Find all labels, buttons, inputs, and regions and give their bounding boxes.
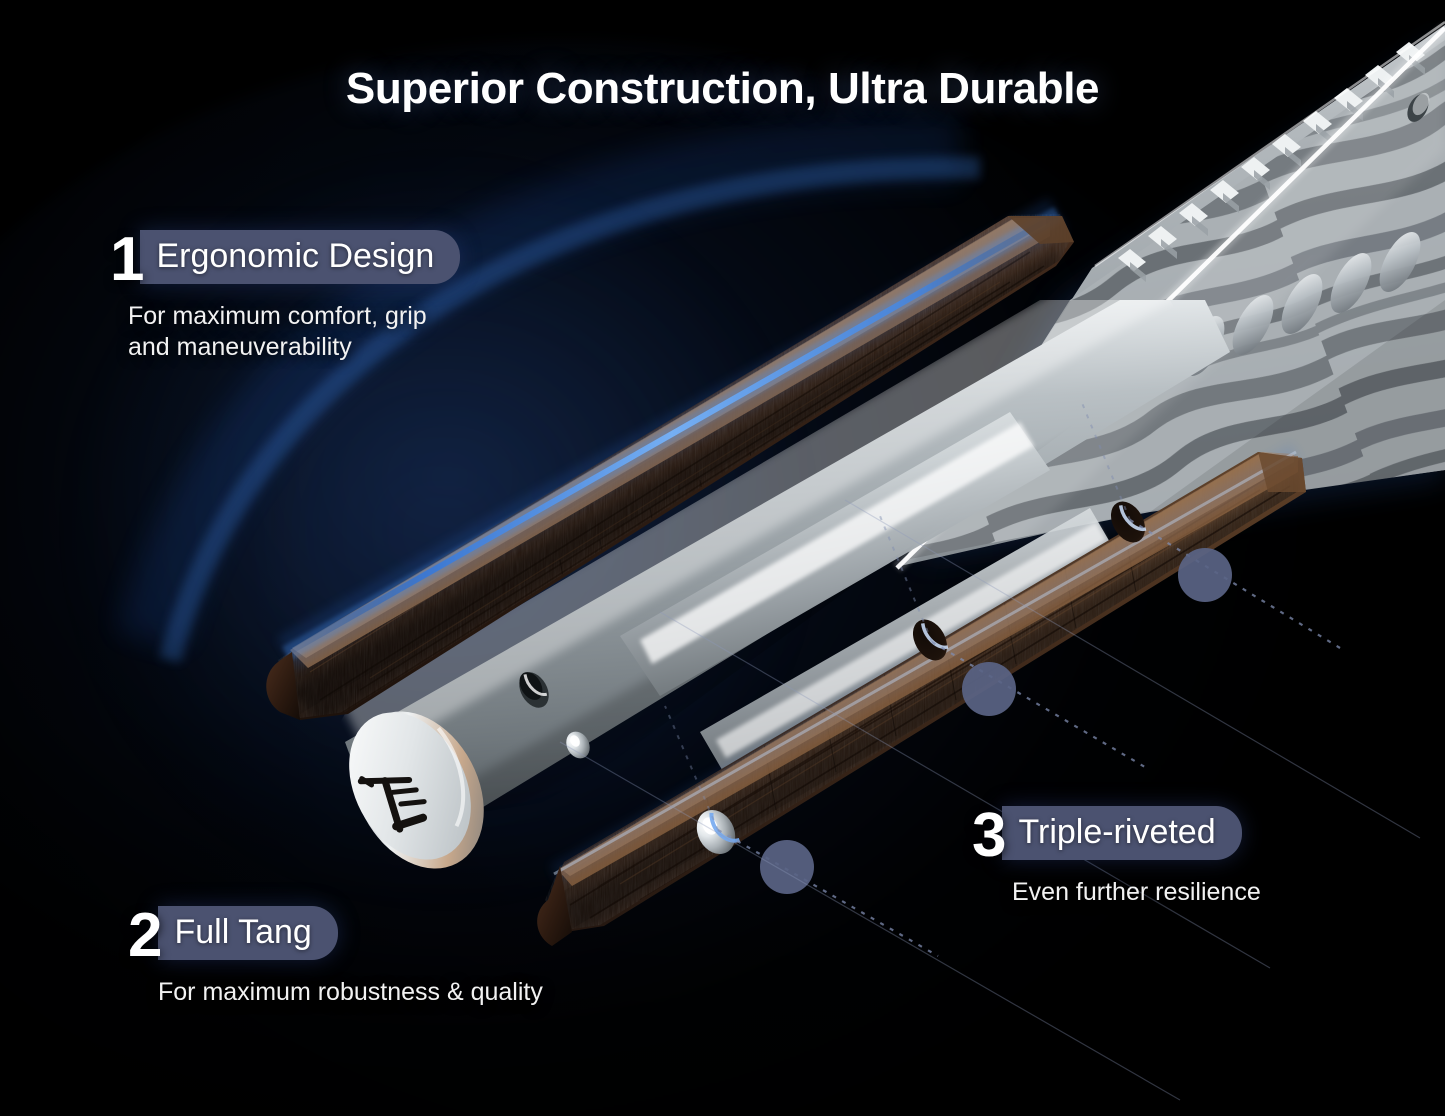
pommel-endcap xyxy=(325,689,510,892)
full-tang-steel xyxy=(340,190,1260,860)
callout-number: 3 xyxy=(972,809,1008,864)
callout-label: Ergonomic Design xyxy=(156,239,434,273)
product-feature-graphic: Superior Construction, Ultra Durable 1 E… xyxy=(0,0,1445,1116)
brand-logo-mark xyxy=(360,758,430,835)
callout-full-tang: 2 Full Tang For maximum robustness & qua… xyxy=(128,906,543,1008)
guide-marker xyxy=(760,840,814,894)
callout-header: 1 Ergonomic Design xyxy=(110,230,460,288)
callout-number: 1 xyxy=(110,233,146,288)
callout-label: Triple-riveted xyxy=(1018,815,1215,849)
callout-description: For maximum comfort, grip and maneuverab… xyxy=(128,301,460,362)
callout-number: 2 xyxy=(128,909,164,964)
callout-badge: Triple-riveted xyxy=(1002,806,1241,860)
callout-description: Even further resilience xyxy=(1012,877,1261,908)
tang-rivets xyxy=(562,727,743,860)
page-title: Superior Construction, Ultra Durable xyxy=(0,64,1445,114)
callout-label: Full Tang xyxy=(174,915,311,949)
ambient-arc xyxy=(150,150,980,660)
tang-rivet-hole xyxy=(513,667,555,713)
blade-dimples xyxy=(1133,226,1429,402)
callout-header: 3 Triple-riveted xyxy=(972,806,1261,864)
callout-header: 2 Full Tang xyxy=(128,906,543,964)
handle-rivet-holes xyxy=(906,495,1152,666)
guide-marker xyxy=(962,662,1016,716)
callout-ergonomic-design: 1 Ergonomic Design For maximum comfort, … xyxy=(110,230,460,362)
callout-description: For maximum robustness & quality xyxy=(158,977,543,1008)
guide-marker xyxy=(1178,548,1232,602)
rivet-alignment-guides xyxy=(560,398,1420,1100)
callout-badge: Ergonomic Design xyxy=(140,230,460,284)
bolster-band xyxy=(620,412,1050,696)
callout-triple-riveted: 3 Triple-riveted Even further resilience xyxy=(972,806,1261,908)
callout-badge: Full Tang xyxy=(158,906,337,960)
